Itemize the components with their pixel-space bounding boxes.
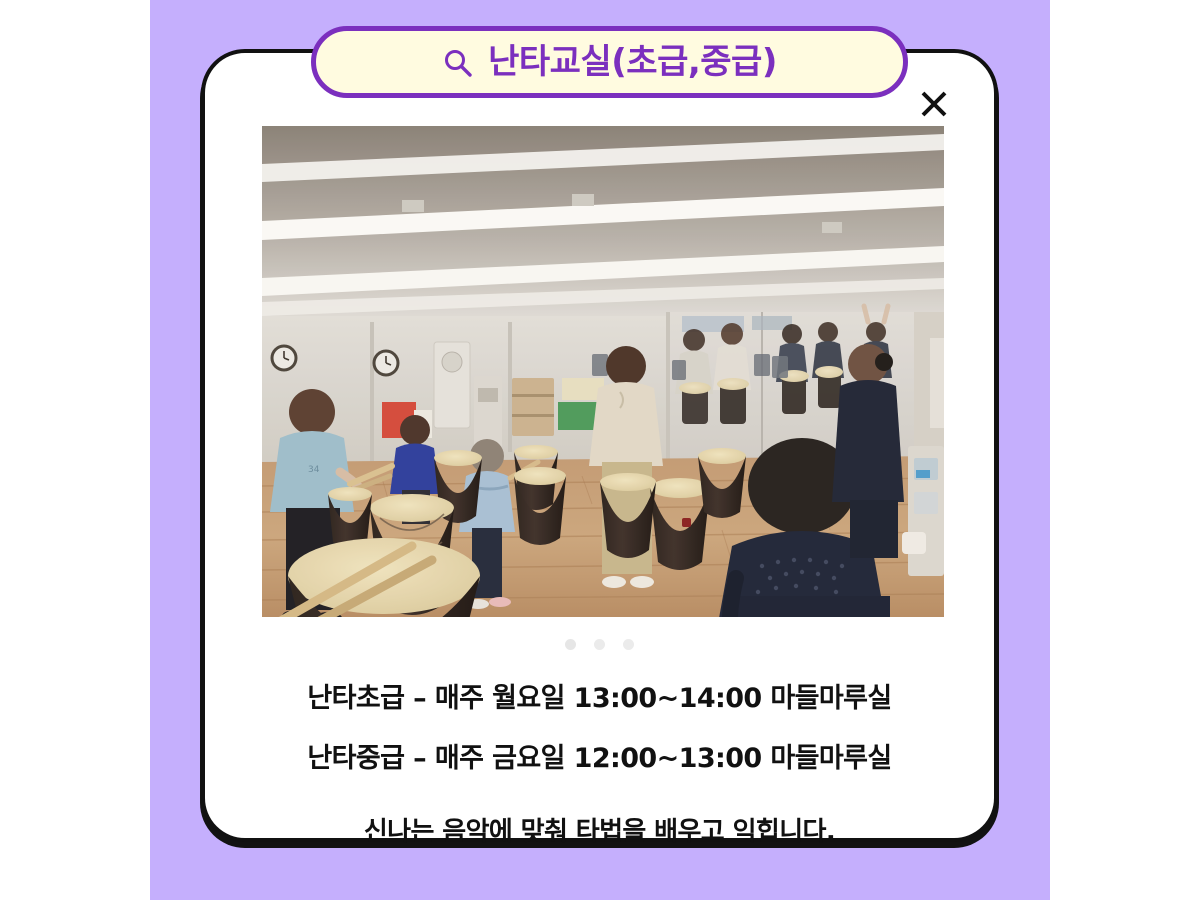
caption-line-beginner: 난타초급 – 매주 월요일 13:00~14:00 마들마루실 <box>301 685 897 712</box>
close-icon <box>919 89 949 119</box>
caption-block: 난타초급 – 매주 월요일 13:00~14:00 마들마루실 난타중급 – 매… <box>205 663 994 845</box>
search-icon <box>442 47 474 79</box>
carousel-dot[interactable] <box>594 639 605 650</box>
title-pill: 난타교실(초급,중급) <box>311 26 908 98</box>
caption-line-intermediate: 난타중급 – 매주 금요일 12:00~13:00 마들마루실 <box>301 745 897 772</box>
caption-line-description: 신나는 음악에 맞춰 타법을 배우고 익힙니다. <box>358 819 841 845</box>
class-photo[interactable]: 34 <box>262 126 944 617</box>
class-photo-image: 34 <box>262 126 944 617</box>
screen: 34 <box>0 0 1200 900</box>
carousel-dots[interactable] <box>205 639 994 650</box>
page-title: 난타교실(초급,중급) <box>488 45 777 79</box>
carousel-dot[interactable] <box>565 639 576 650</box>
close-button[interactable] <box>912 82 956 126</box>
carousel-dot[interactable] <box>623 639 634 650</box>
info-card: 34 <box>201 49 998 842</box>
